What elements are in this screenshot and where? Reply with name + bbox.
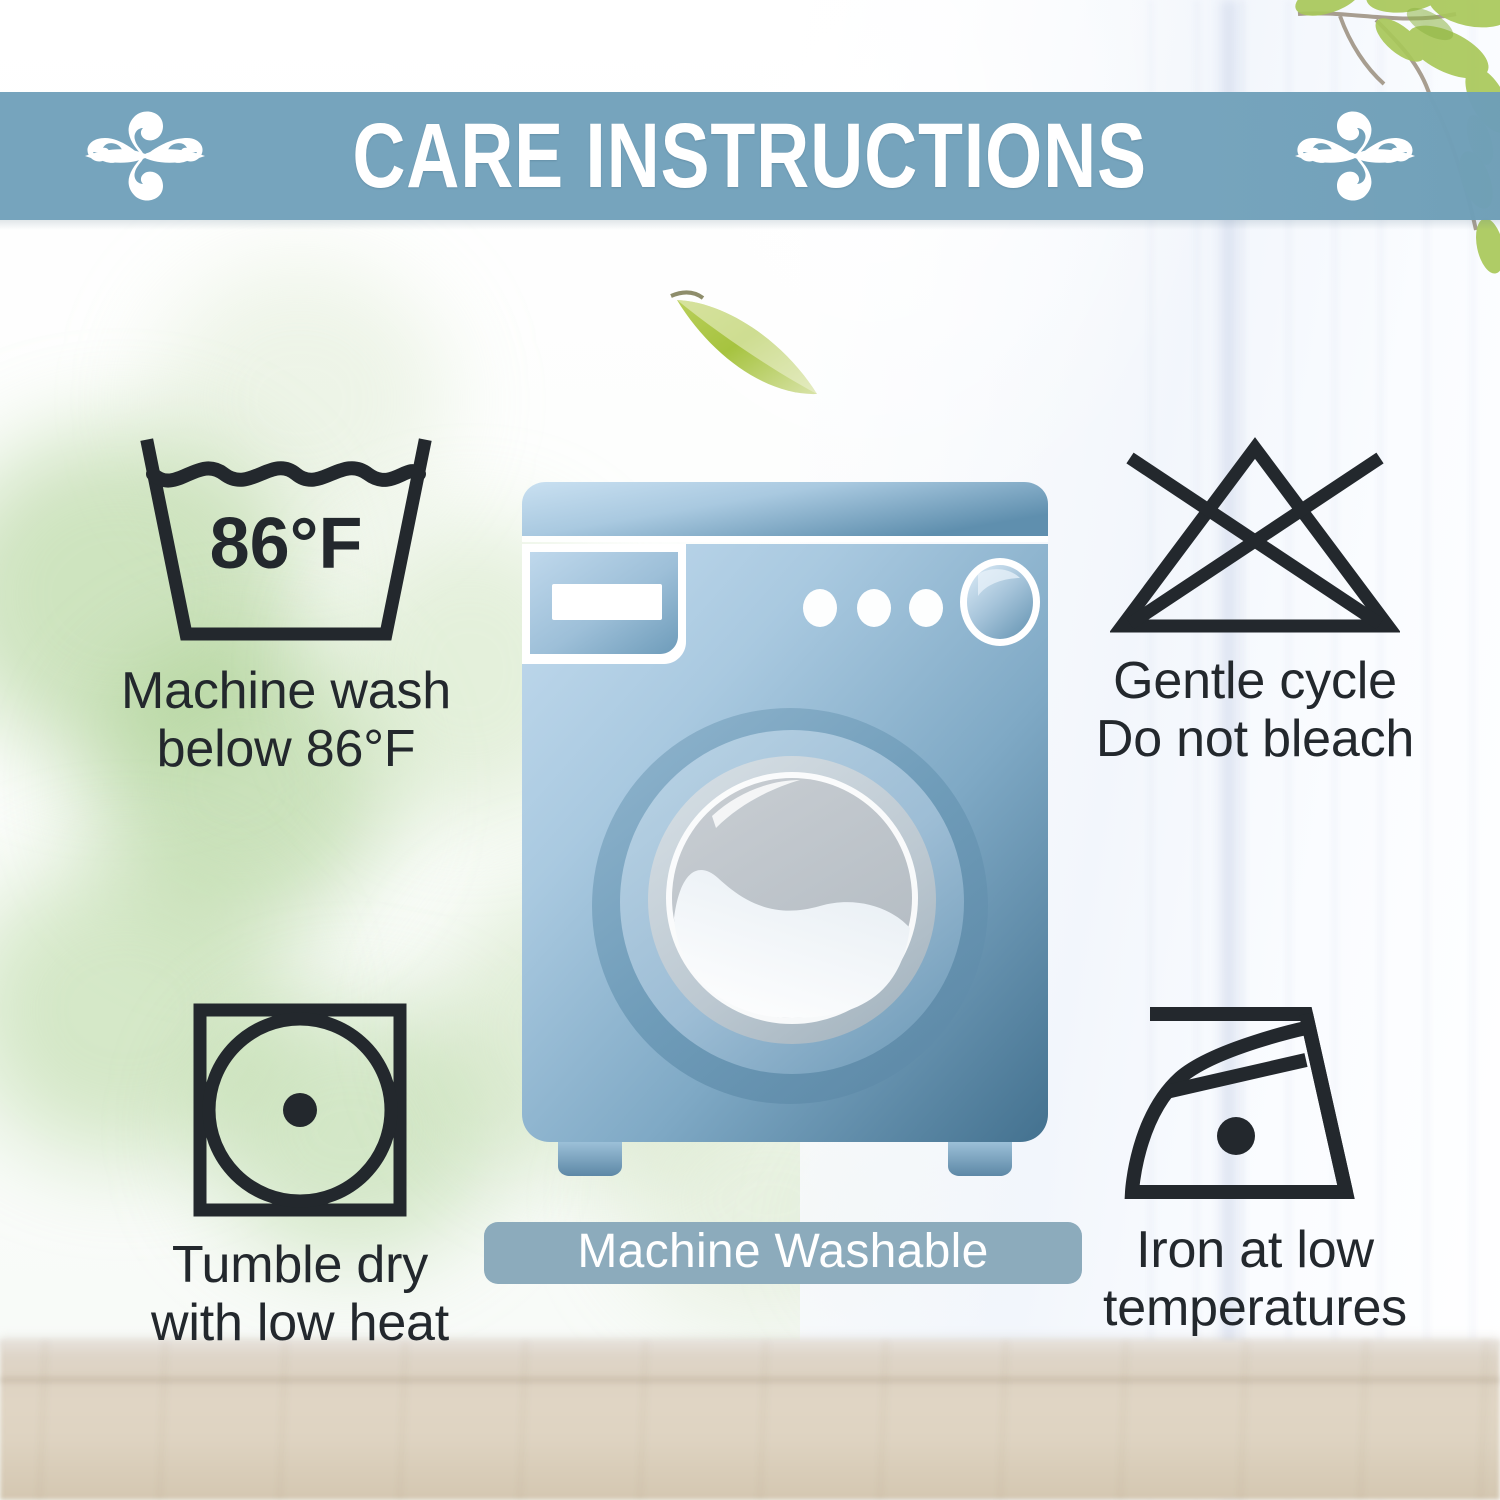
iron-one-dot-icon: [1110, 1000, 1400, 1205]
care-symbol-iron: Iron at low temperatures: [1020, 1000, 1490, 1337]
triangle-crossed-icon: [1110, 436, 1400, 636]
drawer-slot: [552, 584, 662, 620]
care-symbol-tumble-dry: Tumble dry with low heat: [50, 1000, 550, 1352]
care-symbol-do-not-bleach: Gentle cycle Do not bleach: [1020, 436, 1490, 768]
fleur-de-lis-icon: [79, 108, 207, 204]
banner-drop-shadow: [0, 220, 1500, 230]
wash-tub-icon: 86°F: [136, 436, 436, 646]
indicator-light: [803, 589, 837, 627]
care-label-iron: Iron at low temperatures: [1103, 1221, 1407, 1337]
care-label-tumble-dry: Tumble dry with low heat: [151, 1236, 449, 1352]
washing-machine-illustration: [500, 478, 1070, 1178]
wooden-table-seam: [0, 1378, 1500, 1382]
header-banner: CARE INSTRUCTIONS: [0, 92, 1500, 220]
care-label-machine-wash: Machine wash below 86°F: [121, 662, 451, 778]
care-symbol-machine-wash: 86°F Machine wash below 86°F: [36, 436, 536, 778]
washer-door[interactable]: [592, 708, 988, 1104]
fleur-de-lis-icon: [1293, 108, 1421, 204]
washer-feet: [558, 1142, 1012, 1176]
leaf-icon: [655, 278, 835, 418]
indicator-light: [909, 589, 943, 627]
care-label-do-not-bleach: Gentle cycle Do not bleach: [1096, 652, 1414, 768]
badge-label: Machine Washable: [577, 1228, 988, 1279]
wooden-table-grain: [0, 1340, 1500, 1500]
wash-temperature-value: 86°F: [210, 504, 363, 584]
machine-washable-badge: Machine Washable: [484, 1222, 1082, 1284]
tumble-dry-one-dot-icon: [190, 1000, 410, 1220]
washer-lid: [522, 482, 1048, 542]
washer-foot: [558, 1142, 622, 1176]
indicator-light: [857, 589, 891, 627]
washer-foot: [948, 1142, 1012, 1176]
indicator-lights: [803, 589, 943, 627]
detergent-drawer: [522, 544, 686, 664]
page-title: CARE INSTRUCTIONS: [353, 110, 1148, 202]
